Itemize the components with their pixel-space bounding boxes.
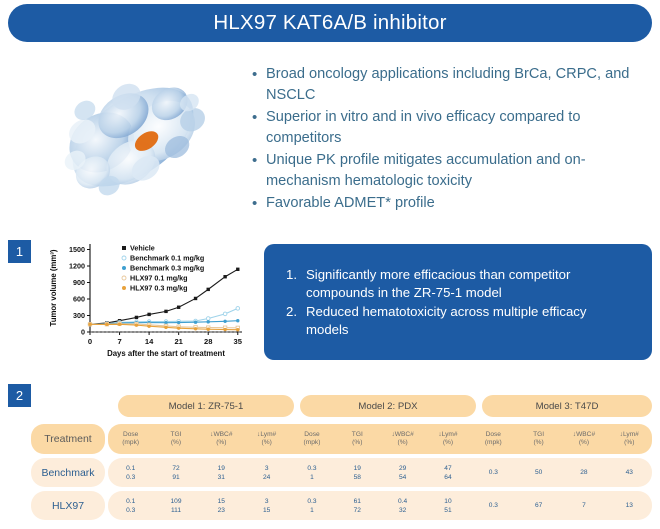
chart-text: 1200 <box>69 262 85 271</box>
cell-value-secondary: 24 <box>263 473 270 482</box>
column-header-top: Dose <box>123 431 138 440</box>
chart-marker <box>118 323 121 326</box>
cell-value-primary: 10 <box>444 497 451 506</box>
cell-value-primary: 43 <box>626 468 633 477</box>
column-header: ↓Lym#(%) <box>607 424 652 454</box>
cell-value-secondary: 111 <box>171 506 181 515</box>
legend-marker <box>122 286 126 290</box>
callout-text: Significantly more efficacious than comp… <box>306 266 632 302</box>
table-cell: 315 <box>244 491 289 520</box>
table-cell: 6172 <box>335 491 380 520</box>
chart-marker <box>177 306 180 309</box>
chart-marker <box>207 320 210 323</box>
legend-marker <box>122 276 126 280</box>
bullet-text: Superior in vitro and in vivo efficacy c… <box>266 107 652 149</box>
table-cell: 0.10.3 <box>108 491 153 520</box>
column-header-unit: (%) <box>216 439 226 448</box>
list-item: 2. Reduced hematotoxicity across multipl… <box>286 303 632 339</box>
cell-value-primary: 7 <box>582 501 586 510</box>
column-header: TGI(%) <box>516 424 561 454</box>
bullet-text: Unique PK profile mitigates accumulation… <box>266 150 652 192</box>
cell-value-primary: 29 <box>399 464 406 473</box>
legend-marker <box>122 266 126 270</box>
data-cell-group: 0.10.310911115233150.3161720.43210510.36… <box>108 491 652 520</box>
column-header-unit: (%) <box>624 439 634 448</box>
table-row: Benchmark 0.10.3729119313240.31195829544… <box>28 458 652 487</box>
cell-value-secondary: 51 <box>444 506 451 515</box>
chart-marker <box>236 307 240 311</box>
column-header: Dose(mpk) <box>289 424 334 454</box>
table-cell: 0.3 <box>471 458 516 487</box>
list-item: • Favorable ADMET* profile <box>252 193 652 214</box>
chart-text: 21 <box>174 337 183 346</box>
step-badge-2: 2 <box>8 384 31 407</box>
table-cell: 67 <box>516 491 561 520</box>
column-header-top: ↓WBC# <box>573 431 595 440</box>
page-title: HLX97 KAT6A/B inhibitor <box>213 11 446 35</box>
bullet-dot-icon: • <box>252 64 266 106</box>
column-header: ↓WBC#(%) <box>199 424 244 454</box>
chart-marker <box>135 323 138 326</box>
table-cell: 0.31 <box>289 491 334 520</box>
chart-marker <box>164 326 167 329</box>
list-item: • Broad oncology applications including … <box>252 64 652 106</box>
chart-marker <box>207 288 210 291</box>
cell-value-secondary: 32 <box>399 506 406 515</box>
chart-text: 0 <box>88 337 92 346</box>
chart-marker <box>223 312 227 316</box>
row-label: HLX97 <box>31 491 105 520</box>
cell-value-primary: 0.3 <box>489 501 498 510</box>
column-header-unit: (%) <box>262 439 272 448</box>
chart-marker <box>135 316 138 319</box>
column-header-unit: (%) <box>443 439 453 448</box>
callout-number: 2. <box>286 303 306 339</box>
column-header-unit: (%) <box>398 439 408 448</box>
chart-svg: 0300600900120015000714212835Tumor volume… <box>46 236 246 364</box>
chart-text: 14 <box>145 337 154 346</box>
feature-bullet-list: • Broad oncology applications including … <box>252 64 652 215</box>
legend-label: HLX97 0.3 mg/kg <box>130 283 188 292</box>
chart-marker <box>223 320 226 323</box>
chart-text: Tumor volume (mm³) <box>49 249 58 326</box>
model-pill-1: Model 1: ZR-75-1 <box>118 395 294 417</box>
column-header-unit: (%) <box>579 439 589 448</box>
column-header-unit: (mpk) <box>304 439 321 448</box>
callout-text: Reduced hematotoxicity across multiple e… <box>306 303 632 339</box>
chart-marker <box>223 275 226 278</box>
cell-value-primary: 72 <box>172 464 179 473</box>
row-label-cell: HLX97 <box>28 491 108 520</box>
column-header: ↓Lym#(%) <box>244 424 289 454</box>
chart-marker <box>236 319 239 322</box>
chart-marker <box>177 321 180 324</box>
cell-value-secondary: 0.3 <box>126 473 135 482</box>
table-cell: 50 <box>516 458 561 487</box>
column-header-top: TGI <box>170 431 181 440</box>
cell-value-secondary: 0.3 <box>126 506 135 515</box>
chart-marker <box>105 323 108 326</box>
cell-value-primary: 67 <box>535 501 542 510</box>
legend-label: Benchmark 0.1 mg/kg <box>130 253 204 262</box>
table-cell: 0.432 <box>380 491 425 520</box>
protein-surface-svg <box>42 52 224 222</box>
column-header: Dose(mpk) <box>471 424 516 454</box>
cell-value-secondary: 15 <box>263 506 270 515</box>
table-cell: 7 <box>561 491 606 520</box>
model-pill-3: Model 3: T47D <box>482 395 652 417</box>
header-cell-group: Dose(mpk)TGI(%)↓WBC#(%)↓Lym#(%)Dose(mpk)… <box>108 424 652 454</box>
tumor-volume-chart: 0300600900120015000714212835Tumor volume… <box>46 236 246 364</box>
cell-value-secondary: 72 <box>354 506 361 515</box>
table-header-row: Treatment Dose(mpk)TGI(%)↓WBC#(%)↓Lym#(%… <box>28 424 652 454</box>
column-header: ↓WBC#(%) <box>380 424 425 454</box>
key-findings-callout: 1. Significantly more efficacious than c… <box>264 244 652 360</box>
cell-value-primary: 28 <box>580 468 587 477</box>
chart-marker <box>147 313 150 316</box>
chart-marker <box>206 317 210 321</box>
table-cell: 1523 <box>199 491 244 520</box>
treatment-label-pill: Treatment <box>31 424 105 454</box>
table-cell: 43 <box>607 458 652 487</box>
cell-value-primary: 19 <box>354 464 361 473</box>
chart-marker <box>194 321 197 324</box>
cell-value-secondary: 54 <box>399 473 406 482</box>
table-row: HLX97 0.10.310911115233150.3161720.43210… <box>28 491 652 520</box>
cell-value-primary: 0.3 <box>307 497 316 506</box>
legend-marker <box>122 256 126 260</box>
column-header: Dose(mpk) <box>108 424 153 454</box>
cell-value-secondary: 1 <box>310 506 314 515</box>
column-header-unit: (%) <box>533 439 543 448</box>
column-header-top: ↓WBC# <box>210 431 232 440</box>
cell-value-secondary: 31 <box>218 473 225 482</box>
list-item: 1. Significantly more efficacious than c… <box>286 266 632 302</box>
cell-value-secondary: 23 <box>218 506 225 515</box>
column-header: TGI(%) <box>335 424 380 454</box>
chart-text: 0 <box>81 328 85 337</box>
cell-value-secondary: 58 <box>354 473 361 482</box>
cell-value-primary: 0.1 <box>126 497 135 506</box>
chart-text: 1500 <box>69 245 85 254</box>
chart-marker <box>236 328 239 331</box>
legend-marker <box>122 246 126 250</box>
column-header: TGI(%) <box>153 424 198 454</box>
step-badge-1: 1 <box>8 240 31 263</box>
bullet-dot-icon: • <box>252 107 266 149</box>
protein-structure-image <box>42 52 224 222</box>
column-header-top: ↓WBC# <box>391 431 413 440</box>
list-item: • Unique PK profile mitigates accumulati… <box>252 150 652 192</box>
column-header-top: ↓Lym# <box>620 431 639 440</box>
table-cell: 109111 <box>153 491 198 520</box>
cell-value-primary: 13 <box>626 501 633 510</box>
cell-value-primary: 0.3 <box>307 464 316 473</box>
column-header-top: Dose <box>304 431 319 440</box>
results-table: Treatment Dose(mpk)TGI(%)↓WBC#(%)↓Lym#(%… <box>28 424 652 524</box>
cell-value-primary: 3 <box>265 464 269 473</box>
column-header-unit: (mpk) <box>122 439 139 448</box>
cell-value-secondary: 1 <box>310 473 314 482</box>
column-header: ↓WBC#(%) <box>561 424 606 454</box>
column-header-top: TGI <box>533 431 544 440</box>
chart-text: 900 <box>73 278 85 287</box>
column-header-top: ↓Lym# <box>257 431 276 440</box>
chart-marker <box>147 325 150 328</box>
table-cell: 0.10.3 <box>108 458 153 487</box>
chart-marker <box>177 326 180 329</box>
table-cell: 1931 <box>199 458 244 487</box>
table-cell: 28 <box>561 458 606 487</box>
cell-value-primary: 47 <box>444 464 451 473</box>
cell-value-primary: 0.4 <box>398 497 407 506</box>
column-header-unit: (mpk) <box>485 439 502 448</box>
column-header-top: TGI <box>352 431 363 440</box>
bullet-text: Favorable ADMET* profile <box>266 193 435 214</box>
column-header-unit: (%) <box>171 439 181 448</box>
chart-marker <box>194 297 197 300</box>
table-cell: 4764 <box>425 458 470 487</box>
cell-value-primary: 50 <box>535 468 542 477</box>
table-cell: 2954 <box>380 458 425 487</box>
slide-root: HLX97 KAT6A/B inhibitor <box>0 0 660 529</box>
list-item: • Superior in vitro and in vivo efficacy… <box>252 107 652 149</box>
chart-marker <box>88 323 91 326</box>
model-pill-2: Model 2: PDX <box>300 395 476 417</box>
treatment-header-cell: Treatment <box>28 424 108 454</box>
cell-value-primary: 0.3 <box>489 468 498 477</box>
legend-label: Benchmark 0.3 mg/kg <box>130 263 204 272</box>
bullet-dot-icon: • <box>252 150 266 192</box>
bullet-text: Broad oncology applications including Br… <box>266 64 652 106</box>
cell-value-primary: 0.1 <box>126 464 135 473</box>
chart-marker <box>236 268 239 271</box>
column-header: ↓Lym#(%) <box>425 424 470 454</box>
cell-value-primary: 61 <box>354 497 361 506</box>
column-header-top: ↓Lym# <box>438 431 457 440</box>
title-banner: HLX97 KAT6A/B inhibitor <box>8 4 652 42</box>
table-cell: 0.3 <box>471 491 516 520</box>
table-cell: 7291 <box>153 458 198 487</box>
row-label-cell: Benchmark <box>28 458 108 487</box>
chart-marker <box>207 328 210 331</box>
table-cell: 1051 <box>425 491 470 520</box>
chart-text: 28 <box>204 337 212 346</box>
cell-value-secondary: 91 <box>172 473 179 482</box>
chart-text: 600 <box>73 295 85 304</box>
cell-value-primary: 19 <box>218 464 225 473</box>
chart-marker <box>194 327 197 330</box>
chart-marker <box>223 328 226 331</box>
chart-text: 35 <box>234 337 243 346</box>
table-cell: 324 <box>244 458 289 487</box>
callout-number: 1. <box>286 266 306 302</box>
cell-value-secondary: 64 <box>444 473 451 482</box>
bullet-dot-icon: • <box>252 193 266 214</box>
table-cell: 0.31 <box>289 458 334 487</box>
chart-marker <box>164 310 167 313</box>
row-label: Benchmark <box>31 458 105 487</box>
data-cell-group: 0.10.3729119313240.311958295447640.35028… <box>108 458 652 487</box>
chart-text: Days after the start of treatment <box>107 349 225 358</box>
table-cell: 13 <box>607 491 652 520</box>
legend-label: HLX97 0.1 mg/kg <box>130 273 188 282</box>
column-header-top: Dose <box>486 431 501 440</box>
chart-text: 7 <box>117 337 121 346</box>
table-cell: 1958 <box>335 458 380 487</box>
legend-label: Vehicle <box>130 243 155 252</box>
cell-value-primary: 109 <box>170 497 181 506</box>
cell-value-primary: 15 <box>218 497 225 506</box>
chart-text: 300 <box>73 311 85 320</box>
column-header-unit: (%) <box>352 439 362 448</box>
cell-value-primary: 3 <box>265 497 269 506</box>
